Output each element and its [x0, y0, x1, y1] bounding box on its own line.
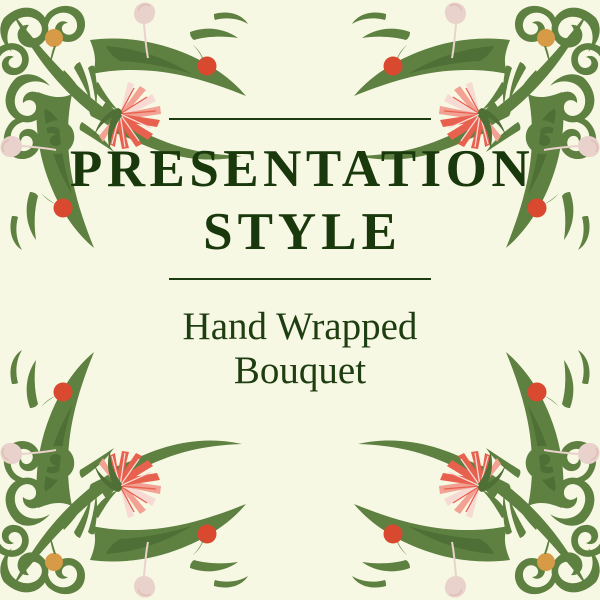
- page-title-line-1: PRESENTATION: [4, 142, 600, 197]
- divider-rule-bottom: [169, 278, 431, 280]
- title-block: PRESENTATION STYLE: [0, 118, 600, 280]
- page-title-line-2: STYLE: [5, 205, 600, 260]
- divider-rule-top: [169, 118, 431, 120]
- subtitle-block: Hand Wrapped Bouquet: [0, 305, 600, 392]
- subtitle-line-1: Hand Wrapped: [0, 305, 600, 349]
- poster-canvas: PRESENTATION STYLE Hand Wrapped Bouquet: [0, 0, 600, 600]
- subtitle-line-2: Bouquet: [0, 349, 600, 393]
